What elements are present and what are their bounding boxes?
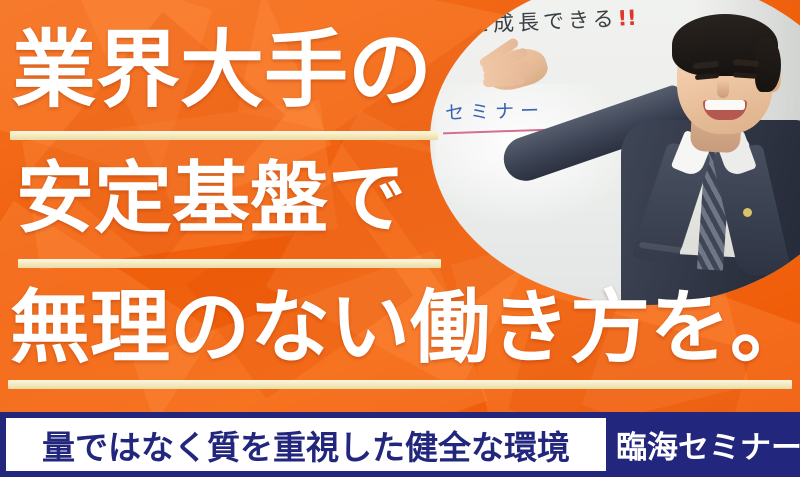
headline-block: 業界大手の 安定基盤で 無理のない働き方を。 xyxy=(0,0,800,412)
footer-tagline-box: 量ではなく質を重視した健全な環境 xyxy=(6,418,606,471)
headline-underline-1 xyxy=(10,131,438,140)
footer-bar: 量ではなく質を重視した健全な環境 臨海セミナー xyxy=(0,412,800,477)
headline-line-3: 無理のない働き方を。 xyxy=(10,288,800,368)
brand-name: 臨海セミナー xyxy=(616,412,800,477)
headline-underline-2 xyxy=(18,259,441,268)
footer-tagline: 量ではなく質を重視した健全な環境 xyxy=(42,421,570,469)
headline-line-2: 安定基盤で xyxy=(16,160,406,238)
recruitment-banner: 共に成長できる!! セミナー xyxy=(0,0,800,477)
headline-line-1: 業界大手の xyxy=(12,28,432,112)
headline-underline-3 xyxy=(8,380,792,389)
